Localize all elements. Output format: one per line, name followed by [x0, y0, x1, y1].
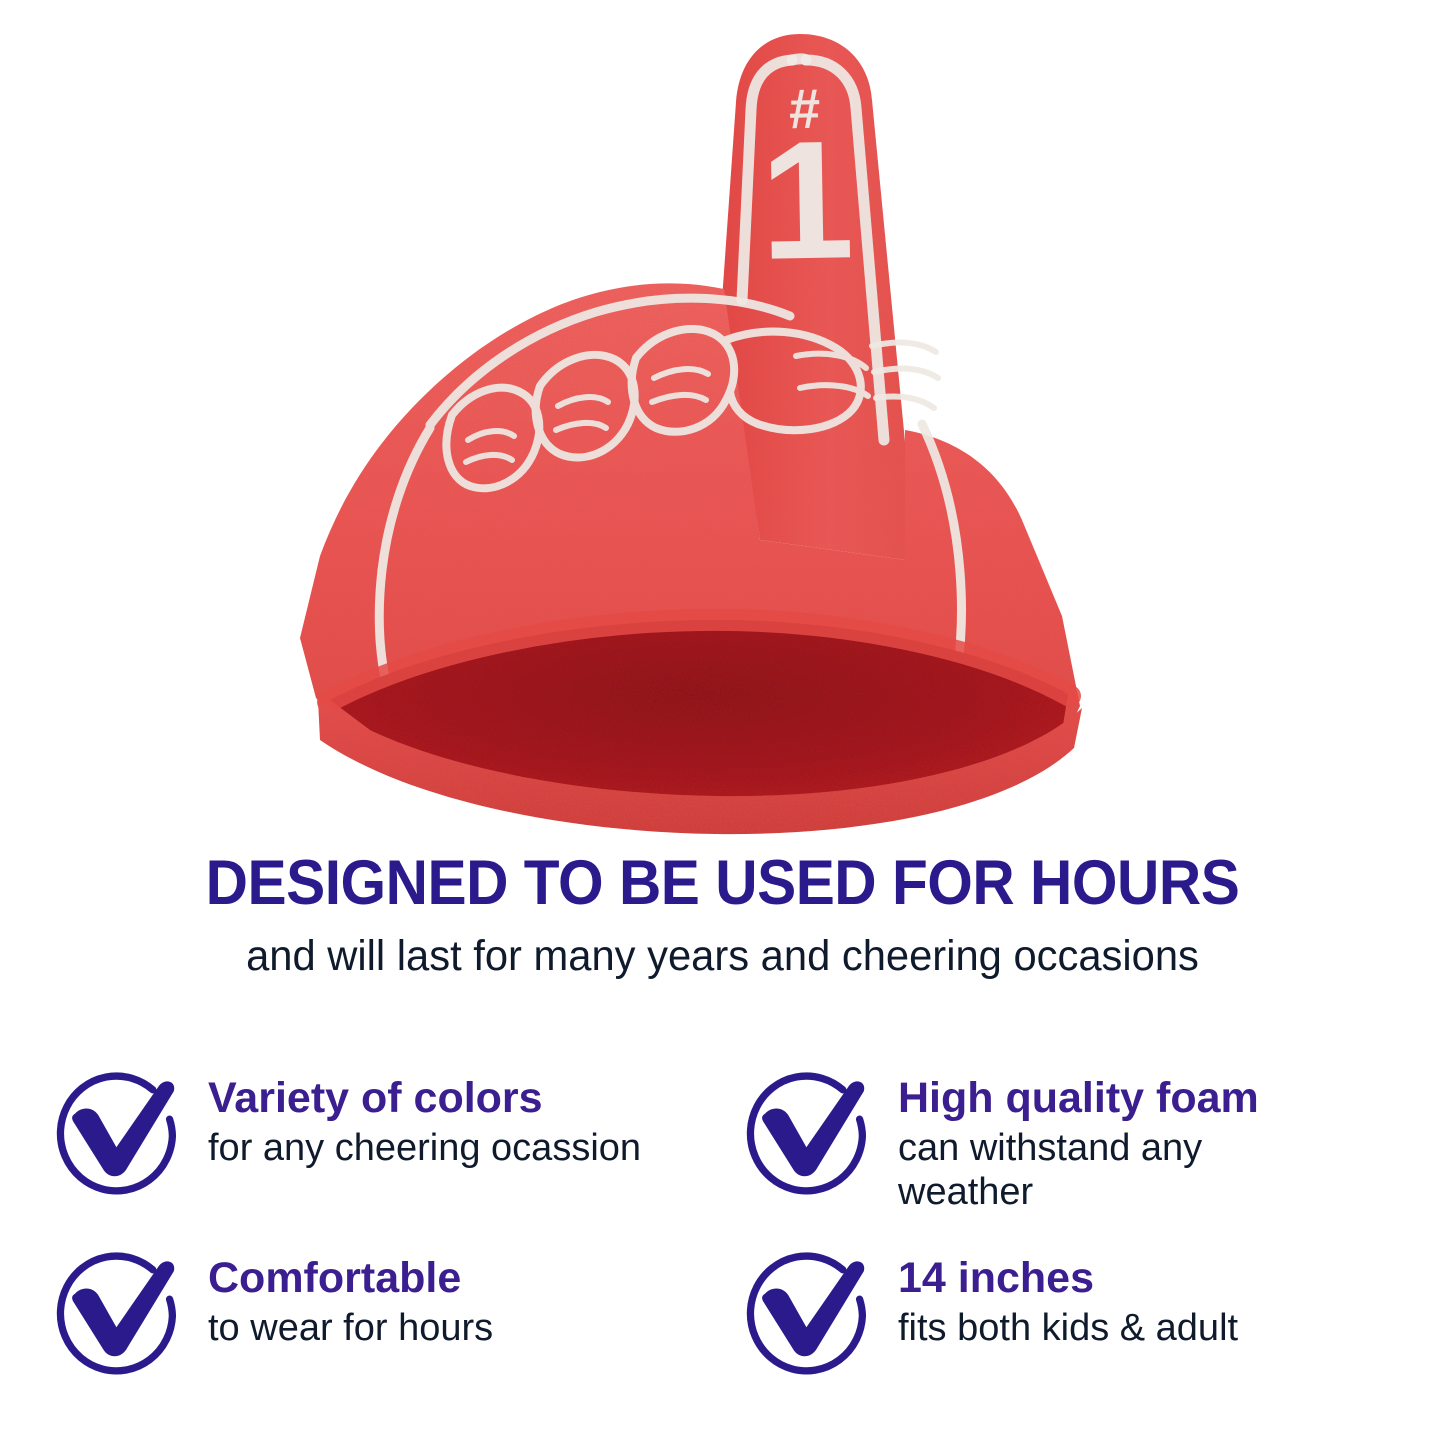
check-circle-icon — [742, 1246, 882, 1386]
page-title: DESIGNED TO BE USED FOR HOURS — [51, 852, 1395, 915]
feature-title: Comfortable — [208, 1256, 493, 1301]
feature-title: 14 inches — [898, 1256, 1238, 1301]
check-circle-icon — [742, 1066, 882, 1206]
svg-text:1: 1 — [759, 105, 856, 295]
feature-text: Comfortable to wear for hours — [208, 1242, 493, 1350]
foam-finger-illustration: # 1 — [0, 0, 1445, 840]
headline-block: DESIGNED TO BE USED FOR HOURS and will l… — [0, 852, 1445, 982]
feature-title: Variety of colors — [208, 1076, 641, 1121]
feature-title: High quality foam — [898, 1076, 1328, 1121]
check-circle-icon — [52, 1246, 192, 1386]
feature-text: High quality foam can withstand any weat… — [898, 1062, 1328, 1214]
feature-item-variety-of-colors: Variety of colors for any cheering ocass… — [52, 1062, 742, 1242]
feature-list: Variety of colors for any cheering ocass… — [52, 1062, 1397, 1422]
feature-subtitle: to wear for hours — [208, 1306, 493, 1350]
check-circle-icon — [52, 1066, 192, 1206]
feature-subtitle: fits both kids & adult — [898, 1306, 1238, 1350]
feature-item-high-quality-foam: High quality foam can withstand any weat… — [742, 1062, 1397, 1242]
feature-subtitle: for any cheering ocassion — [208, 1126, 641, 1170]
page-subtitle: and will last for many years and cheerin… — [22, 931, 1424, 982]
feature-item-comfortable: Comfortable to wear for hours — [52, 1242, 742, 1422]
feature-text: 14 inches fits both kids & adult — [898, 1242, 1238, 1350]
feature-subtitle: can withstand any weather — [898, 1126, 1328, 1214]
feature-text: Variety of colors for any cheering ocass… — [208, 1062, 641, 1170]
number-one-print: # 1 — [759, 77, 856, 295]
product-image: # 1 — [0, 0, 1445, 840]
feature-item-14-inches: 14 inches fits both kids & adult — [742, 1242, 1397, 1422]
